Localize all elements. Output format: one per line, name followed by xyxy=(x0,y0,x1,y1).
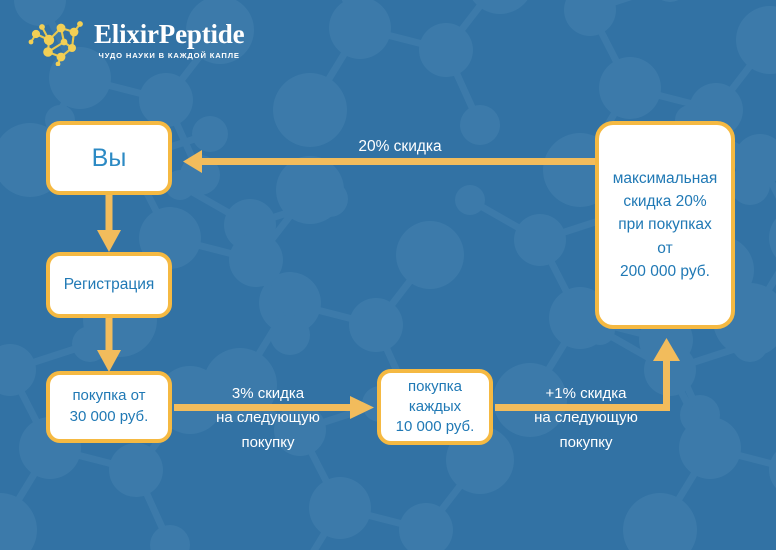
node-purchase-every-10000-label: покупка каждых 10 000 руб. xyxy=(381,377,489,436)
text-line: 3% скидка xyxy=(232,385,304,402)
node-purchase-from-30000[interactable]: покупка от 30 000 руб. xyxy=(46,371,172,443)
node-you-label: Вы xyxy=(50,144,168,173)
node-you[interactable]: Вы xyxy=(46,121,172,195)
text-line: покупка xyxy=(408,378,462,395)
edge-label-3-percent-discount: 3% скидка на следующую покупку xyxy=(190,382,346,455)
text-line: каждых xyxy=(409,398,461,415)
node-purchase-every-10000[interactable]: покупка каждых 10 000 руб. xyxy=(377,369,493,445)
text-line: 200 000 руб. xyxy=(620,263,710,280)
node-registration-label: Регистрация xyxy=(50,276,168,294)
text-line: скидка 20% xyxy=(623,193,706,210)
edge-label-plus-1-percent-discount: +1% скидка на следующую покупку xyxy=(508,382,664,455)
text-line: покупку xyxy=(559,434,612,451)
text-line: максимальная xyxy=(613,170,718,187)
text-line: на следующую xyxy=(216,409,320,426)
edge-label-20-percent-discount: 20% скидка xyxy=(300,134,500,159)
text-line: от xyxy=(657,240,672,257)
discount-program-infographic: ElixirPeptide ЧУДО НАУКИ В КАЖДОЙ КАПЛЕ xyxy=(0,0,776,550)
node-registration[interactable]: Регистрация xyxy=(46,252,172,318)
node-max-discount-label: максимальная скидка 20% при покупках от … xyxy=(599,167,731,283)
text-line: 20% скидка xyxy=(358,138,441,155)
text-line: на следующую xyxy=(534,409,638,426)
arrow-you-to-reg xyxy=(97,195,121,252)
node-purchase-from-30000-label: покупка от 30 000 руб. xyxy=(50,386,168,427)
text-line: +1% скидка xyxy=(545,385,626,402)
text-line: 30 000 руб. xyxy=(70,408,149,425)
arrow-reg-to-buy30 xyxy=(97,318,121,372)
text-line: 10 000 руб. xyxy=(396,418,475,435)
node-max-discount[interactable]: максимальная скидка 20% при покупках от … xyxy=(595,121,735,329)
text-line: при покупках xyxy=(618,216,712,233)
text-line: покупка от xyxy=(72,387,145,404)
text-line: покупку xyxy=(241,434,294,451)
